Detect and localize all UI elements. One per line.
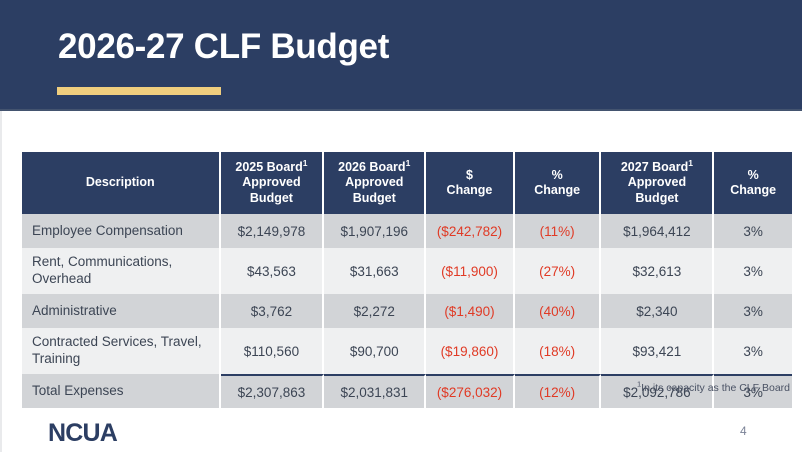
header-line-1: 2026 Board <box>338 160 405 174</box>
column-header-percent-change: % Change <box>515 152 602 214</box>
table-row: Administrative $3,762 $2,272 ($1,490) (4… <box>22 294 792 328</box>
budget-table: Description 2025 Board1 Approved Budget … <box>22 152 792 408</box>
table-header: Description 2025 Board1 Approved Budget … <box>22 152 792 214</box>
header-line-2: Approved <box>242 175 300 189</box>
header-line-3: Budget <box>250 191 293 205</box>
header-line-2: Change <box>447 183 493 197</box>
header-line-2: Change <box>534 183 580 197</box>
column-header-percent-change-2027: % Change <box>714 152 792 214</box>
cell-budget-2025: $43,563 <box>221 248 325 294</box>
header-line-3: Budget <box>353 191 396 205</box>
left-rail-divider <box>0 111 2 452</box>
cell-dollar-change: ($1,490) <box>426 294 515 328</box>
column-header-2025-approved-budget: 2025 Board1 Approved Budget <box>221 152 325 214</box>
cell-budget-2025: $110,560 <box>221 328 325 374</box>
header-line-2: Approved <box>345 175 403 189</box>
cell-dollar-change: ($276,032) <box>426 374 515 408</box>
cell-budget-2026: $31,663 <box>324 248 426 294</box>
header-line-2: Change <box>730 183 776 197</box>
footnote-ref: 1 <box>688 158 693 168</box>
cell-dollar-change: ($11,900) <box>426 248 515 294</box>
cell-percent-change: (40%) <box>515 294 602 328</box>
cell-budget-2027: $32,613 <box>601 248 714 294</box>
cell-percent-change: (12%) <box>515 374 602 408</box>
cell-budget-2026: $2,031,831 <box>324 374 426 408</box>
table-body: Employee Compensation $2,149,978 $1,907,… <box>22 214 792 408</box>
table-header-row: Description 2025 Board1 Approved Budget … <box>22 152 792 214</box>
cell-percent-change-2027: 3% <box>714 328 792 374</box>
cell-description: Rent, Communications, Overhead <box>22 248 221 294</box>
slide-header-banner: 2026-27 CLF Budget <box>0 0 802 111</box>
banner-bottom-edge <box>0 109 802 111</box>
cell-description: Administrative <box>22 294 221 328</box>
page-title: 2026-27 CLF Budget <box>58 27 389 67</box>
table-row: Rent, Communications, Overhead $43,563 $… <box>22 248 792 294</box>
cell-percent-change-2027: 3% <box>714 214 792 248</box>
cell-budget-2027: $2,340 <box>601 294 714 328</box>
cell-dollar-change: ($242,782) <box>426 214 515 248</box>
header-line-1: % <box>552 168 563 182</box>
cell-budget-2025: $2,307,863 <box>221 374 325 408</box>
cell-percent-change: (11%) <box>515 214 602 248</box>
header-line-1: $ <box>466 168 473 182</box>
cell-budget-2026: $90,700 <box>324 328 426 374</box>
header-line-1: 2027 Board <box>621 160 688 174</box>
cell-percent-change: (18%) <box>515 328 602 374</box>
cell-budget-2025: $2,149,978 <box>221 214 325 248</box>
table-row: Contracted Services, Travel, Training $1… <box>22 328 792 374</box>
footnote-text: In its capacity as the CLF Board <box>641 382 790 394</box>
cell-description: Contracted Services, Travel, Training <box>22 328 221 374</box>
slide-canvas: 2026-27 CLF Budget Description 2025 Boar… <box>0 0 802 452</box>
column-header-2026-approved-budget: 2026 Board1 Approved Budget <box>324 152 426 214</box>
column-header-description: Description <box>22 152 221 214</box>
cell-description: Employee Compensation <box>22 214 221 248</box>
cell-budget-2027: $1,964,412 <box>601 214 714 248</box>
cell-percent-change-2027: 3% <box>714 294 792 328</box>
footnote-ref: 1 <box>406 158 411 168</box>
header-line-1: % <box>748 168 759 182</box>
cell-budget-2027: $93,421 <box>601 328 714 374</box>
table-footnote: 1In its capacity as the CLF Board <box>637 382 790 394</box>
cell-percent-change-2027: 3% <box>714 248 792 294</box>
cell-percent-change: (27%) <box>515 248 602 294</box>
cell-budget-2026: $2,272 <box>324 294 426 328</box>
header-line-1: Description <box>86 175 155 189</box>
column-header-dollar-change: $ Change <box>426 152 515 214</box>
table-row: Employee Compensation $2,149,978 $1,907,… <box>22 214 792 248</box>
cell-dollar-change: ($19,860) <box>426 328 515 374</box>
header-line-1: 2025 Board <box>235 160 302 174</box>
gold-accent-rule <box>57 87 221 95</box>
header-line-2: Approved <box>628 175 686 189</box>
cell-description: Total Expenses <box>22 374 221 408</box>
page-number: 4 <box>740 424 747 438</box>
header-line-3: Budget <box>635 191 678 205</box>
ncua-logo: NCUA <box>48 419 117 448</box>
footnote-ref: 1 <box>303 158 308 168</box>
cell-budget-2025: $3,762 <box>221 294 325 328</box>
cell-budget-2026: $1,907,196 <box>324 214 426 248</box>
column-header-2027-approved-budget: 2027 Board1 Approved Budget <box>601 152 714 214</box>
